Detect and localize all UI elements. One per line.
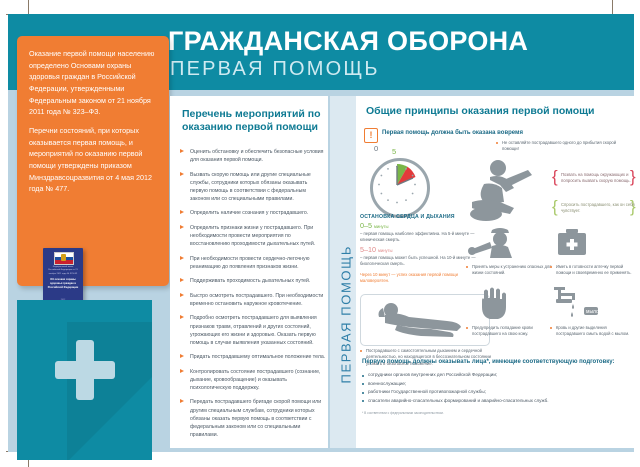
list-item: спасатели аварийно-спасательных формиров… [362,397,628,405]
footnote: * В соответствии с федеральными законода… [362,411,628,415]
exclamation-icon: ! [364,128,378,143]
legal-paragraph-1: Оказание первой помощи населению определ… [29,48,157,118]
principles-card: Общие принципы оказания первой помощи ! … [356,96,634,448]
poster: ГРАЖДАНСКАЯ ОБОРОНА ПЕРВАЯ ПОМОЩЬ Оказан… [0,0,640,461]
bullet-dot-icon [466,266,468,268]
icon-cell-faucet-soap: мыло Кровь и другие выделения пострадавш… [548,285,632,346]
triangle-bullet-icon [180,315,184,319]
who-provides-title: Первую помощь должны оказывать лица*, им… [362,358,628,366]
list-item: Определить наличие сознания у пострадавш… [180,209,326,217]
list-item: Определить признаки жизни у пострадавшег… [180,224,326,248]
medical-cross-icon [55,340,115,400]
principles-title: Общие принципы оказания первой помощи [366,105,594,117]
triangle-bullet-icon [180,278,184,282]
icon-cell-first-aid-kit: Иметь в готовности аптечку первой помощи… [548,224,632,285]
clock-face-icon [370,158,430,218]
note-do-not-leave: Не оставляйте пострадавшего одного до пр… [496,140,630,153]
icon-cell-glove: Предупредить попадание крови пострадавше… [464,285,548,346]
coat-of-arms-icon [61,254,66,261]
list-item: Подробно осмотреть пострадавшего для выя… [180,314,326,346]
legal-panel: Оказание первой помощи населению определ… [17,36,169,286]
vertical-tab: ПЕРВАЯ ПОМОЩЬ [330,96,356,448]
list-item-text: Подробно осмотреть пострадавшего для выя… [190,315,317,345]
icon-grid: Принять меры к устранению опасных для жи… [464,224,632,346]
page-subtitle: ПЕРВАЯ ПОМОЩЬ [170,59,380,79]
triangle-bullet-icon [180,369,184,373]
list-item: Придать пострадавшему оптимальное положе… [180,353,326,361]
triangle-bullet-icon [180,256,184,260]
bullet-dot-icon [550,266,552,268]
book-title: Об основах охраны здоровья граждан в Рос… [47,278,79,290]
vertical-tab-label: ПЕРВАЯ ПОМОЩЬ [339,104,354,384]
list-item-text: Определить признаки жизни у пострадавшег… [190,225,315,247]
list-item-text: Вызвать скорую помощь или другие специал… [190,172,311,202]
list-item-text: Передать пострадавшего бригаде скорой по… [190,399,321,437]
book-caption: Федеральный закон Российской Федерации о… [48,266,78,276]
bullet-dot-icon [466,327,468,329]
icon-caption: Предупредить попадание крови пострадавше… [466,325,552,337]
brace-left-icon: { [552,170,558,184]
svg-text:мыло: мыло [586,309,599,315]
list-item: работники Государственной противопожарно… [362,388,628,396]
list-item-text: Придать пострадавшему оптимальное положе… [190,354,325,360]
measures-card: Перечень мероприятий по оказанию первой … [170,96,328,448]
clock-label-0: 0 [374,144,378,153]
bullet-dot-icon [550,327,552,329]
list-item-text: Быстро осмотреть пострадавшего. При необ… [190,293,323,307]
icon-cell-rescuer: Принять меры к устранению опасных для жи… [464,224,548,285]
triangle-bullet-icon [180,293,184,297]
triangle-bullet-icon [180,149,184,153]
triangle-bullet-icon [180,225,184,229]
list-item-text: Контролировать состояние пострадавшего (… [190,369,320,391]
list-item: Поддерживать проходимость дыхательных пу… [180,277,326,285]
who-provides-block: Первую помощь должны оказывать лица*, им… [362,358,628,415]
list-item-text: Определить наличие сознания у пострадавш… [190,210,308,216]
page-title: ГРАЖДАНСКАЯ ОБОРОНА [168,28,528,55]
law-book-image: Федеральный закон Российской Федерации о… [43,248,83,304]
list-item: Вызвать скорую помощь или другие специал… [180,171,326,203]
list-item-text: Оценить обстановку и обеспечить безопасн… [190,149,324,163]
triangle-bullet-icon [180,399,184,403]
bullet-dot-icon [496,142,498,144]
rescuer-calling-figure [470,158,554,224]
list-item: Оценить обстановку и обеспечить безопасн… [180,148,326,164]
clock-label-5: 5 [392,147,396,156]
list-item: сотрудники органов внутренних дел Россий… [362,371,628,379]
warning-text: Первая помощь должна быть оказана воврем… [382,130,523,136]
legal-paragraph-2: Перечни состояний, при которых оказывает… [29,125,157,195]
icon-caption: Кровь и другие выделения пострадавшего с… [550,325,636,337]
triangle-bullet-icon [180,172,184,176]
measures-title: Перечень мероприятий по оказанию первой … [182,108,322,135]
legal-panel-text: Оказание первой помощи населению определ… [29,48,157,202]
brace-text: Спросить пострадавшего, как он себя чувс… [561,202,635,215]
list-item: Контролировать состояние пострадавшего (… [180,368,326,392]
list-item-text: При необходимости провести сердечно-лего… [190,256,310,270]
who-provides-list: сотрудники органов внутренних дел Россий… [362,371,628,405]
right-notes: Не оставляйте пострадавшего одного до пр… [496,140,630,153]
measures-list: Оценить обстановку и обеспечить безопасн… [180,148,326,445]
triangle-bullet-icon [180,210,184,214]
list-item-text: Поддерживать проходимость дыхательных пу… [190,278,310,284]
list-item: военнослужащие; [362,380,628,388]
triangle-bullet-icon [180,354,184,358]
brace-text: Позвать на помощь окружающих и попросить… [561,172,635,185]
list-item: Передать пострадавшего бригаде скорой по… [180,398,326,438]
brace-left-icon: { [552,200,558,214]
list-item: При необходимости провести сердечно-лего… [180,255,326,271]
clock-diagram: 0 5 10 [362,144,448,214]
icon-caption: Принять меры к устранению опасных для жи… [466,264,552,276]
teal-plus-block [17,300,152,460]
list-item: Быстро осмотреть пострадавшего. При необ… [180,292,326,308]
bullet-dot-icon [360,350,362,352]
icon-caption: Иметь в готовности аптечку первой помощи… [550,264,636,276]
